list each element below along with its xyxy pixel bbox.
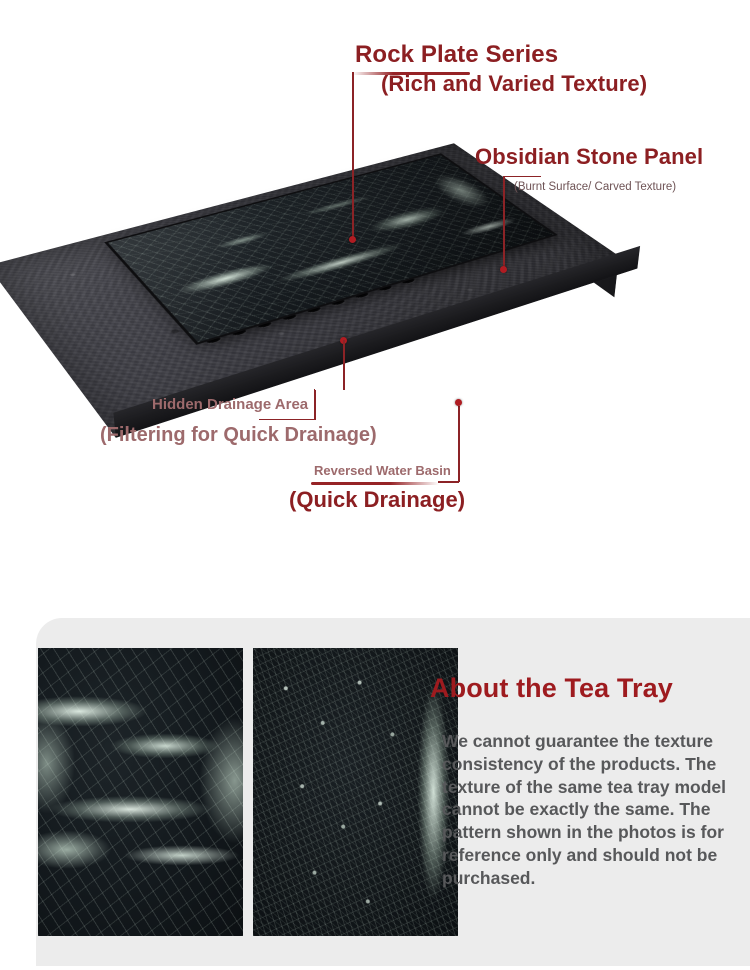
marble-swatch-1 <box>38 648 243 936</box>
annotation-reversed-basin-dot <box>455 399 462 406</box>
annotation-reversed-basin-rule <box>311 482 439 485</box>
marble-swatch-2 <box>253 648 458 936</box>
marble-swatch-1-texture <box>38 648 243 936</box>
annotation-reversed-basin-leader <box>458 406 460 482</box>
annotation-rock-plate-series-title: Rock Plate Series <box>355 41 558 69</box>
annotation-reversed-basin-subtitle: (Quick Drainage) <box>289 487 465 513</box>
about-tea-tray-title: About the Tea Tray <box>430 673 673 704</box>
annotation-obsidian-panel-title: Obsidian Stone Panel <box>475 144 703 170</box>
annotation-obsidian-panel-subtitle: (Burnt Surface/ Carved Texture) <box>514 181 676 193</box>
annotation-hidden-drainage-leader-v <box>314 390 316 420</box>
annotation-hidden-drainage-stem <box>343 340 345 390</box>
annotation-rock-plate-series-leader <box>352 72 354 238</box>
marble-swatch-2-texture <box>253 648 458 936</box>
annotation-rock-plate-series-subtitle: (Rich and Varied Texture) <box>381 71 647 97</box>
annotation-rock-plate-series-dot <box>349 236 356 243</box>
annotation-hidden-drainage-rule <box>259 419 316 420</box>
annotation-hidden-drainage-title: Hidden Drainage Area <box>152 396 308 413</box>
annotation-obsidian-panel-rule <box>503 176 541 177</box>
annotation-hidden-drainage-subtitle: (Filtering for Quick Drainage) <box>100 424 377 447</box>
annotation-obsidian-panel-leader <box>503 176 505 268</box>
annotation-reversed-basin-leader-h <box>438 481 459 483</box>
annotation-hidden-drainage-leader-h <box>314 389 315 391</box>
about-tea-tray-body: We cannot guarantee the texture consiste… <box>442 730 732 889</box>
annotation-obsidian-panel-dot <box>500 266 507 273</box>
hero-product-section: Rock Plate Series (Rich and Varied Textu… <box>0 0 750 590</box>
product-detail-page: Rock Plate Series (Rich and Varied Textu… <box>0 0 750 970</box>
annotation-reversed-basin-title: Reversed Water Basin <box>314 463 451 478</box>
